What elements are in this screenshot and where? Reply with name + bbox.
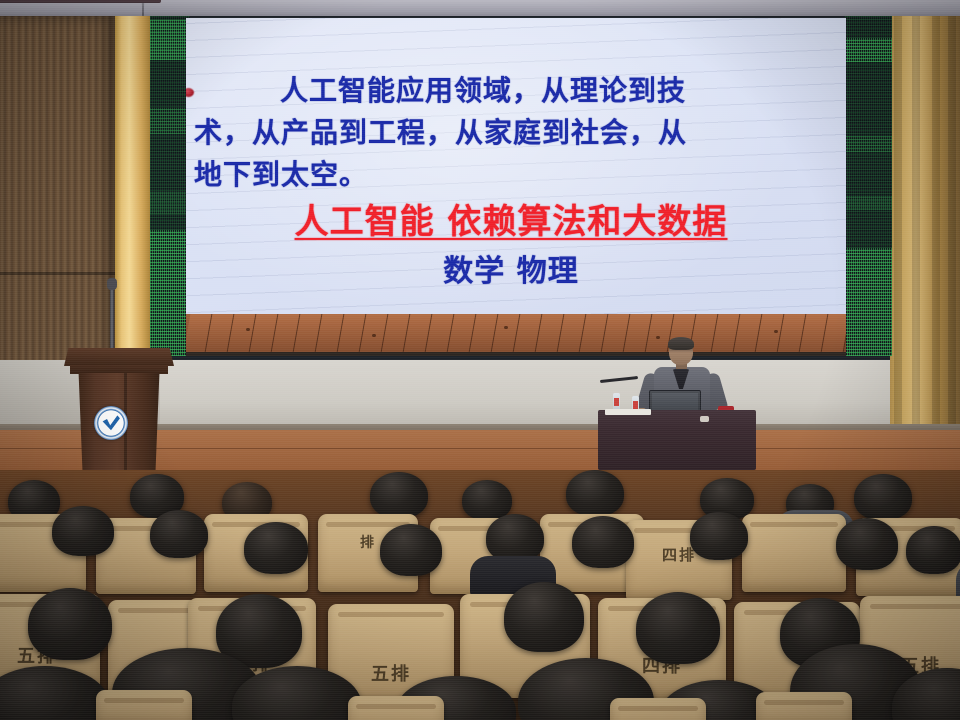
attendee-head [52, 506, 114, 556]
attendee-head [906, 526, 960, 574]
presentation-table-top [0, 0, 161, 3]
slide-body-line-3: 地下到太空。 [194, 154, 828, 196]
podium [64, 348, 174, 488]
auditorium-seat[interactable] [96, 690, 192, 720]
presenter-hair [668, 337, 694, 350]
attendee-head [854, 474, 912, 520]
slide-content: 人工智能应用领域，从理论到技 术，从产品到工程，从家庭到社会，从 地下到太空。 … [186, 18, 846, 296]
attendee-head [636, 592, 720, 664]
attendee-head [486, 514, 544, 562]
attendee-head [690, 512, 748, 560]
attendee-head [28, 588, 112, 660]
audience-area: 排 四排 五排 五排 五排 四排 [0, 470, 960, 720]
auditorium-seat[interactable] [742, 514, 846, 592]
auditorium-seat[interactable] [348, 696, 444, 720]
lecture-hall-scene: 人工智能应用领域，从理论到技 术，从产品到工程，从家庭到社会，从 地下到太空。 … [0, 0, 960, 720]
attendee-head [504, 582, 584, 652]
podium-top [64, 348, 174, 366]
auditorium-seat[interactable] [756, 692, 852, 720]
attendee-head [150, 510, 208, 558]
led-wall-left [150, 16, 190, 356]
projection-screen: 人工智能应用领域，从理论到技 术，从产品到工程，从家庭到社会，从 地下到太空。 … [186, 18, 846, 356]
lower-back-wall [150, 360, 890, 430]
attendee-head [462, 480, 512, 520]
podium-microphone-icon [110, 286, 114, 350]
attendee-head [370, 472, 428, 518]
slide-wood-plank-band [186, 314, 846, 356]
papers-on-desk [605, 409, 651, 415]
attendee-head [566, 470, 624, 516]
presentation-table [598, 410, 756, 470]
led-wall-right [845, 16, 892, 356]
podium-neck [70, 365, 168, 374]
bullet-point-icon [186, 88, 194, 97]
slide-highlight-line: 人工智能 依赖算法和大数据 [194, 196, 828, 248]
slide-subtitle-line: 数学 物理 [194, 248, 828, 296]
wall-panel-seam [0, 272, 115, 275]
slide-body-line-1: 人工智能应用领域，从理论到技 [194, 70, 828, 112]
slide-body-line-2: 术，从产品到工程，从家庭到社会，从 [194, 112, 828, 154]
auditorium-seat[interactable] [610, 698, 706, 720]
attendee-head [836, 518, 898, 570]
attendee-head [380, 524, 442, 576]
floor-object [700, 416, 709, 422]
attendee-head [244, 522, 308, 574]
attendee-head [572, 516, 634, 568]
university-emblem-icon [94, 406, 128, 440]
